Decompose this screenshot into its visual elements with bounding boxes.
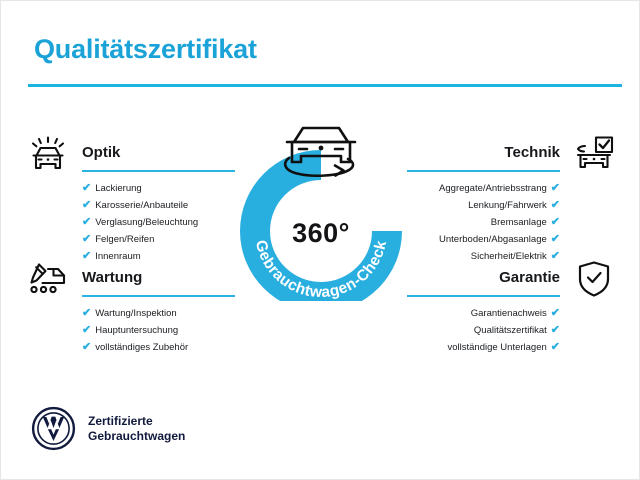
check-icon: ✔ — [82, 342, 91, 353]
list-item: ✔Verglasung/Beleuchtung — [82, 214, 235, 231]
check-icon: ✔ — [551, 234, 560, 245]
check-icon: ✔ — [551, 183, 560, 194]
section-garantie-list: Garantienachweis✔ Qualitätszertifikat✔ v… — [407, 305, 560, 356]
list-item: ✔Karosserie/Anbauteile — [82, 197, 235, 214]
list-item: Lenkung/Fahrwerk✔ — [407, 197, 560, 214]
check-icon: ✔ — [551, 217, 560, 228]
section-garantie-title: Garantie — [499, 269, 560, 286]
section-technik: Technik Aggregate/Antriebsstrang✔ Lenkun… — [407, 134, 617, 265]
check-icon: ✔ — [82, 183, 91, 194]
list-item-label: Bremsanlage — [491, 214, 547, 231]
list-item-label: Wartung/Inspektion — [95, 305, 177, 322]
check-icon: ✔ — [82, 200, 91, 211]
list-item: Qualitätszertifikat✔ — [407, 322, 560, 339]
list-item-label: Unterboden/Abgasanlage — [439, 231, 547, 248]
list-item-label: Verglasung/Beleuchtung — [95, 214, 198, 231]
list-item-label: Aggregate/Antriebsstrang — [439, 180, 547, 197]
section-garantie: Garantie Garantienachweis✔ Qualitätszert… — [407, 259, 617, 356]
pen-car-service-icon — [25, 259, 71, 299]
volkswagen-logo-icon — [31, 406, 76, 451]
section-technik-divider — [407, 170, 560, 172]
list-item-label: Garantienachweis — [471, 305, 547, 322]
list-item-label: Lenkung/Fahrwerk — [468, 197, 547, 214]
section-technik-list: Aggregate/Antriebsstrang✔ Lenkung/Fahrwe… — [407, 180, 560, 265]
list-item-label: Karosserie/Anbauteile — [95, 197, 188, 214]
list-item: Garantienachweis✔ — [407, 305, 560, 322]
list-item: vollständige Unterlagen✔ — [407, 339, 560, 356]
car-rotate-icon — [273, 116, 369, 182]
section-wartung-header: Wartung — [25, 259, 235, 305]
check-icon: ✔ — [82, 234, 91, 245]
list-item: ✔Wartung/Inspektion — [82, 305, 235, 322]
section-optik-divider — [82, 170, 235, 172]
check-icon: ✔ — [551, 325, 560, 336]
volkswagen-branding-text: Zertifizierte Gebrauchtwagen — [88, 414, 185, 444]
section-garantie-divider — [407, 295, 560, 297]
check-icon: ✔ — [82, 325, 91, 336]
volkswagen-branding: Zertifizierte Gebrauchtwagen — [31, 406, 185, 451]
section-optik-header: Optik — [25, 134, 235, 180]
page-title: Qualitätszertifikat — [34, 34, 257, 65]
list-item-label: Lackierung — [95, 180, 141, 197]
list-item: ✔Hauptuntersuchung — [82, 322, 235, 339]
list-item-label: Felgen/Reifen — [95, 231, 154, 248]
section-optik-list: ✔Lackierung ✔Karosserie/Anbauteile ✔Verg… — [82, 180, 235, 265]
section-wartung-title: Wartung — [82, 269, 142, 286]
list-item: Unterboden/Abgasanlage✔ — [407, 231, 560, 248]
section-technik-header: Technik — [407, 134, 617, 180]
section-optik: Optik ✔Lackierung ✔Karosserie/Anbauteile… — [25, 134, 235, 265]
section-wartung-divider — [82, 295, 235, 297]
check-icon: ✔ — [82, 217, 91, 228]
list-item: ✔vollständiges Zubehör — [82, 339, 235, 356]
list-item: ✔Lackierung — [82, 180, 235, 197]
section-wartung-list: ✔Wartung/Inspektion ✔Hauptuntersuchung ✔… — [82, 305, 235, 356]
branding-line-2: Gebrauchtwagen — [88, 429, 185, 444]
list-item: ✔Felgen/Reifen — [82, 231, 235, 248]
list-item-label: vollständiges Zubehör — [95, 339, 188, 356]
car-checkbox-icon — [571, 134, 617, 174]
section-garantie-header: Garantie — [407, 259, 617, 305]
section-wartung: Wartung ✔Wartung/Inspektion ✔Hauptunters… — [25, 259, 235, 356]
title-divider — [28, 84, 622, 87]
car-front-lights-icon — [25, 134, 71, 174]
list-item-label: vollständige Unterlagen — [447, 339, 546, 356]
check-icon: ✔ — [82, 308, 91, 319]
branding-line-1: Zertifizierte — [88, 414, 185, 429]
check-icon: ✔ — [551, 308, 560, 319]
list-item-label: Qualitätszertifikat — [474, 322, 547, 339]
check-icon: ✔ — [551, 342, 560, 353]
section-optik-title: Optik — [82, 144, 120, 161]
360-gebrauchtwagen-check-badge: Gebrauchtwagen-Check 360° — [231, 116, 411, 301]
section-technik-title: Technik — [504, 144, 560, 161]
list-item: Bremsanlage✔ — [407, 214, 560, 231]
badge-degrees-label: 360° — [231, 218, 411, 249]
list-item-label: Hauptuntersuchung — [95, 322, 178, 339]
check-icon: ✔ — [551, 200, 560, 211]
qualitaetszertifikat-page: Qualitätszertifikat — [0, 0, 640, 480]
shield-check-icon — [571, 259, 617, 299]
list-item: Aggregate/Antriebsstrang✔ — [407, 180, 560, 197]
